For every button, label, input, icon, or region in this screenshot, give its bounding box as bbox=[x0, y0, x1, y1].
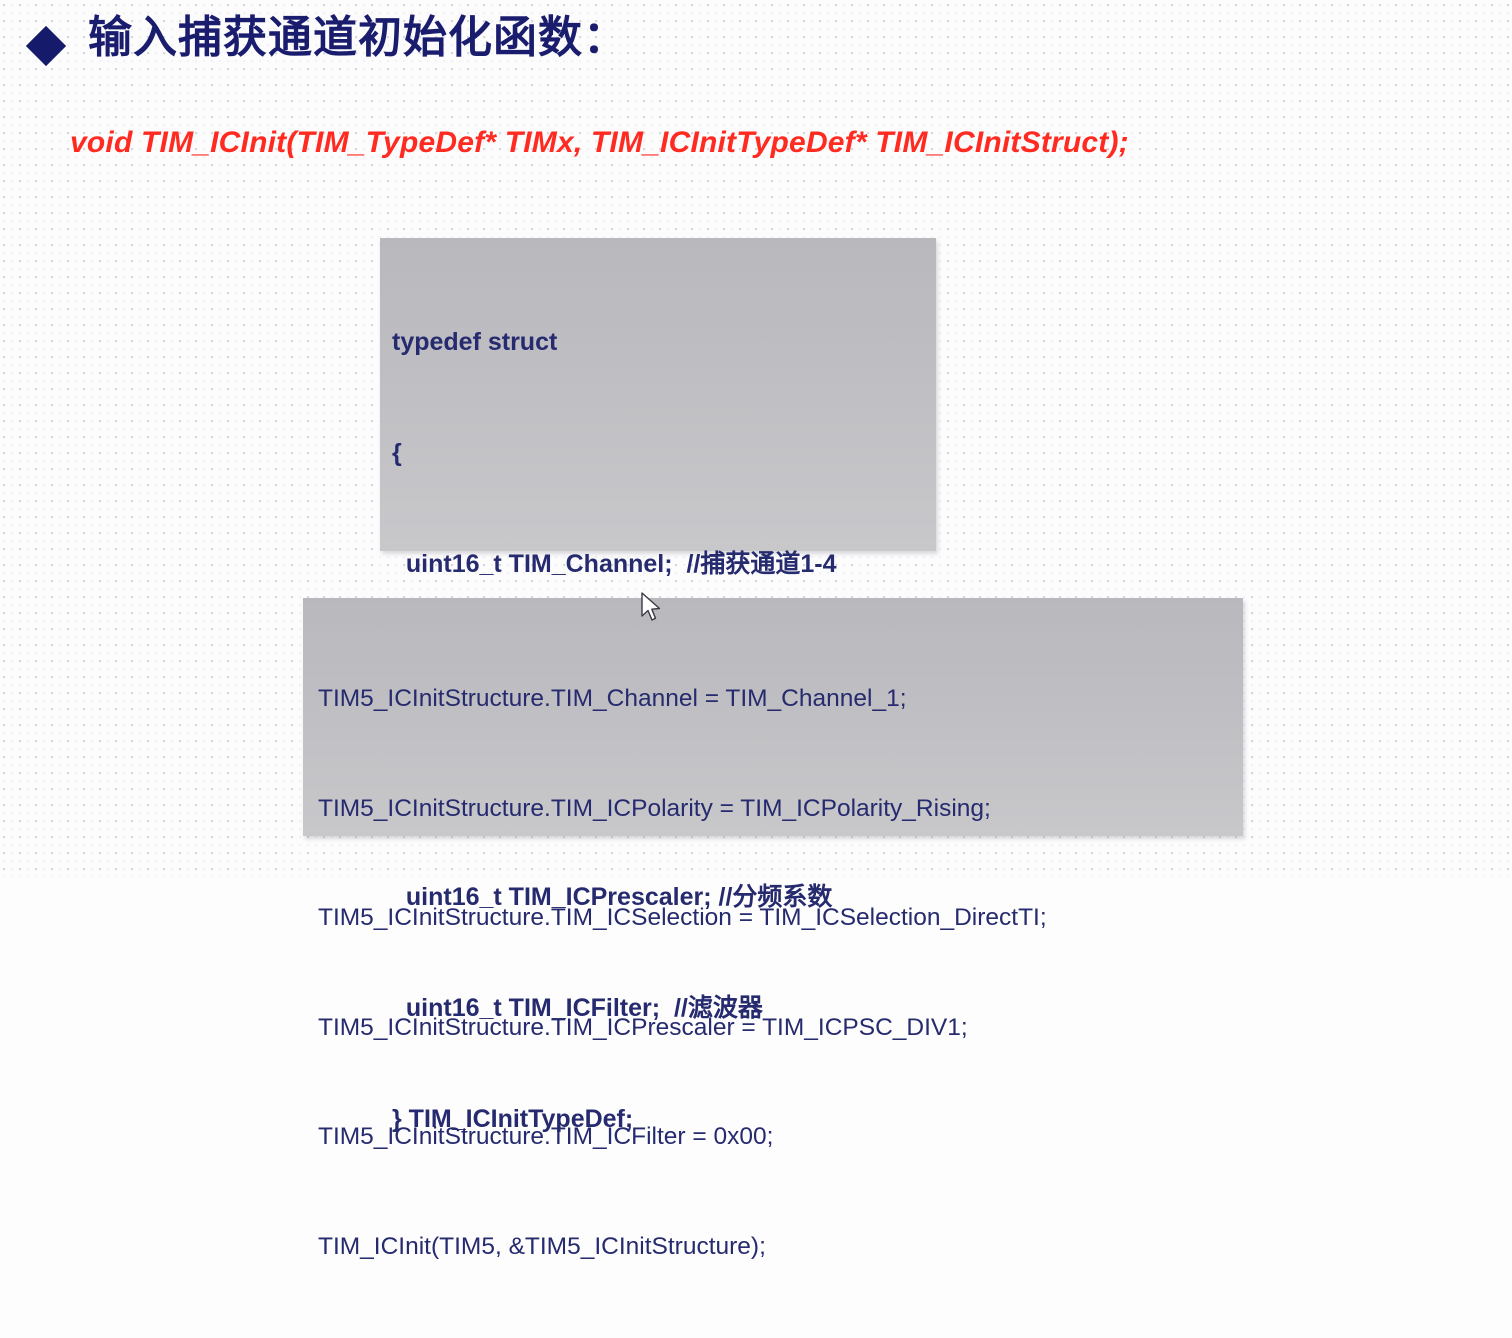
diamond-bullet-icon bbox=[26, 6, 66, 46]
struct-definition-panel: typedef struct { uint16_t TIM_Channel; /… bbox=[380, 238, 936, 551]
usage-example-panel: TIM5_ICInitStructure.TIM_Channel = TIM_C… bbox=[303, 598, 1243, 836]
code-line: uint16_t TIM_Channel; //捕获通道1-4 bbox=[392, 546, 936, 583]
page-title-text: 输入捕获通道初始化函数： bbox=[88, 16, 628, 60]
code-line: TIM5_ICInitStructure.TIM_ICSelection = T… bbox=[318, 900, 1243, 937]
function-prototype: void TIM_ICInit(TIM_TypeDef* TIMx, TIM_I… bbox=[70, 126, 1129, 160]
page-title: 输入捕获通道初始化函数： bbox=[26, 16, 628, 60]
code-line: TIM5_ICInitStructure.TIM_ICFilter = 0x00… bbox=[318, 1119, 1243, 1156]
code-line: TIM5_ICInitStructure.TIM_ICPrescaler = T… bbox=[318, 1010, 1243, 1047]
code-line: { bbox=[392, 435, 936, 472]
code-line: TIM5_ICInitStructure.TIM_ICPolarity = TI… bbox=[318, 791, 1243, 828]
slide-background: 输入捕获通道初始化函数： void TIM_ICInit(TIM_TypeDef… bbox=[0, 0, 1512, 877]
code-line: TIM_ICInit(TIM5, &TIM5_ICInitStructure); bbox=[318, 1229, 1243, 1266]
code-line: TIM5_ICInitStructure.TIM_Channel = TIM_C… bbox=[318, 681, 1243, 718]
code-line: typedef struct bbox=[392, 324, 936, 361]
